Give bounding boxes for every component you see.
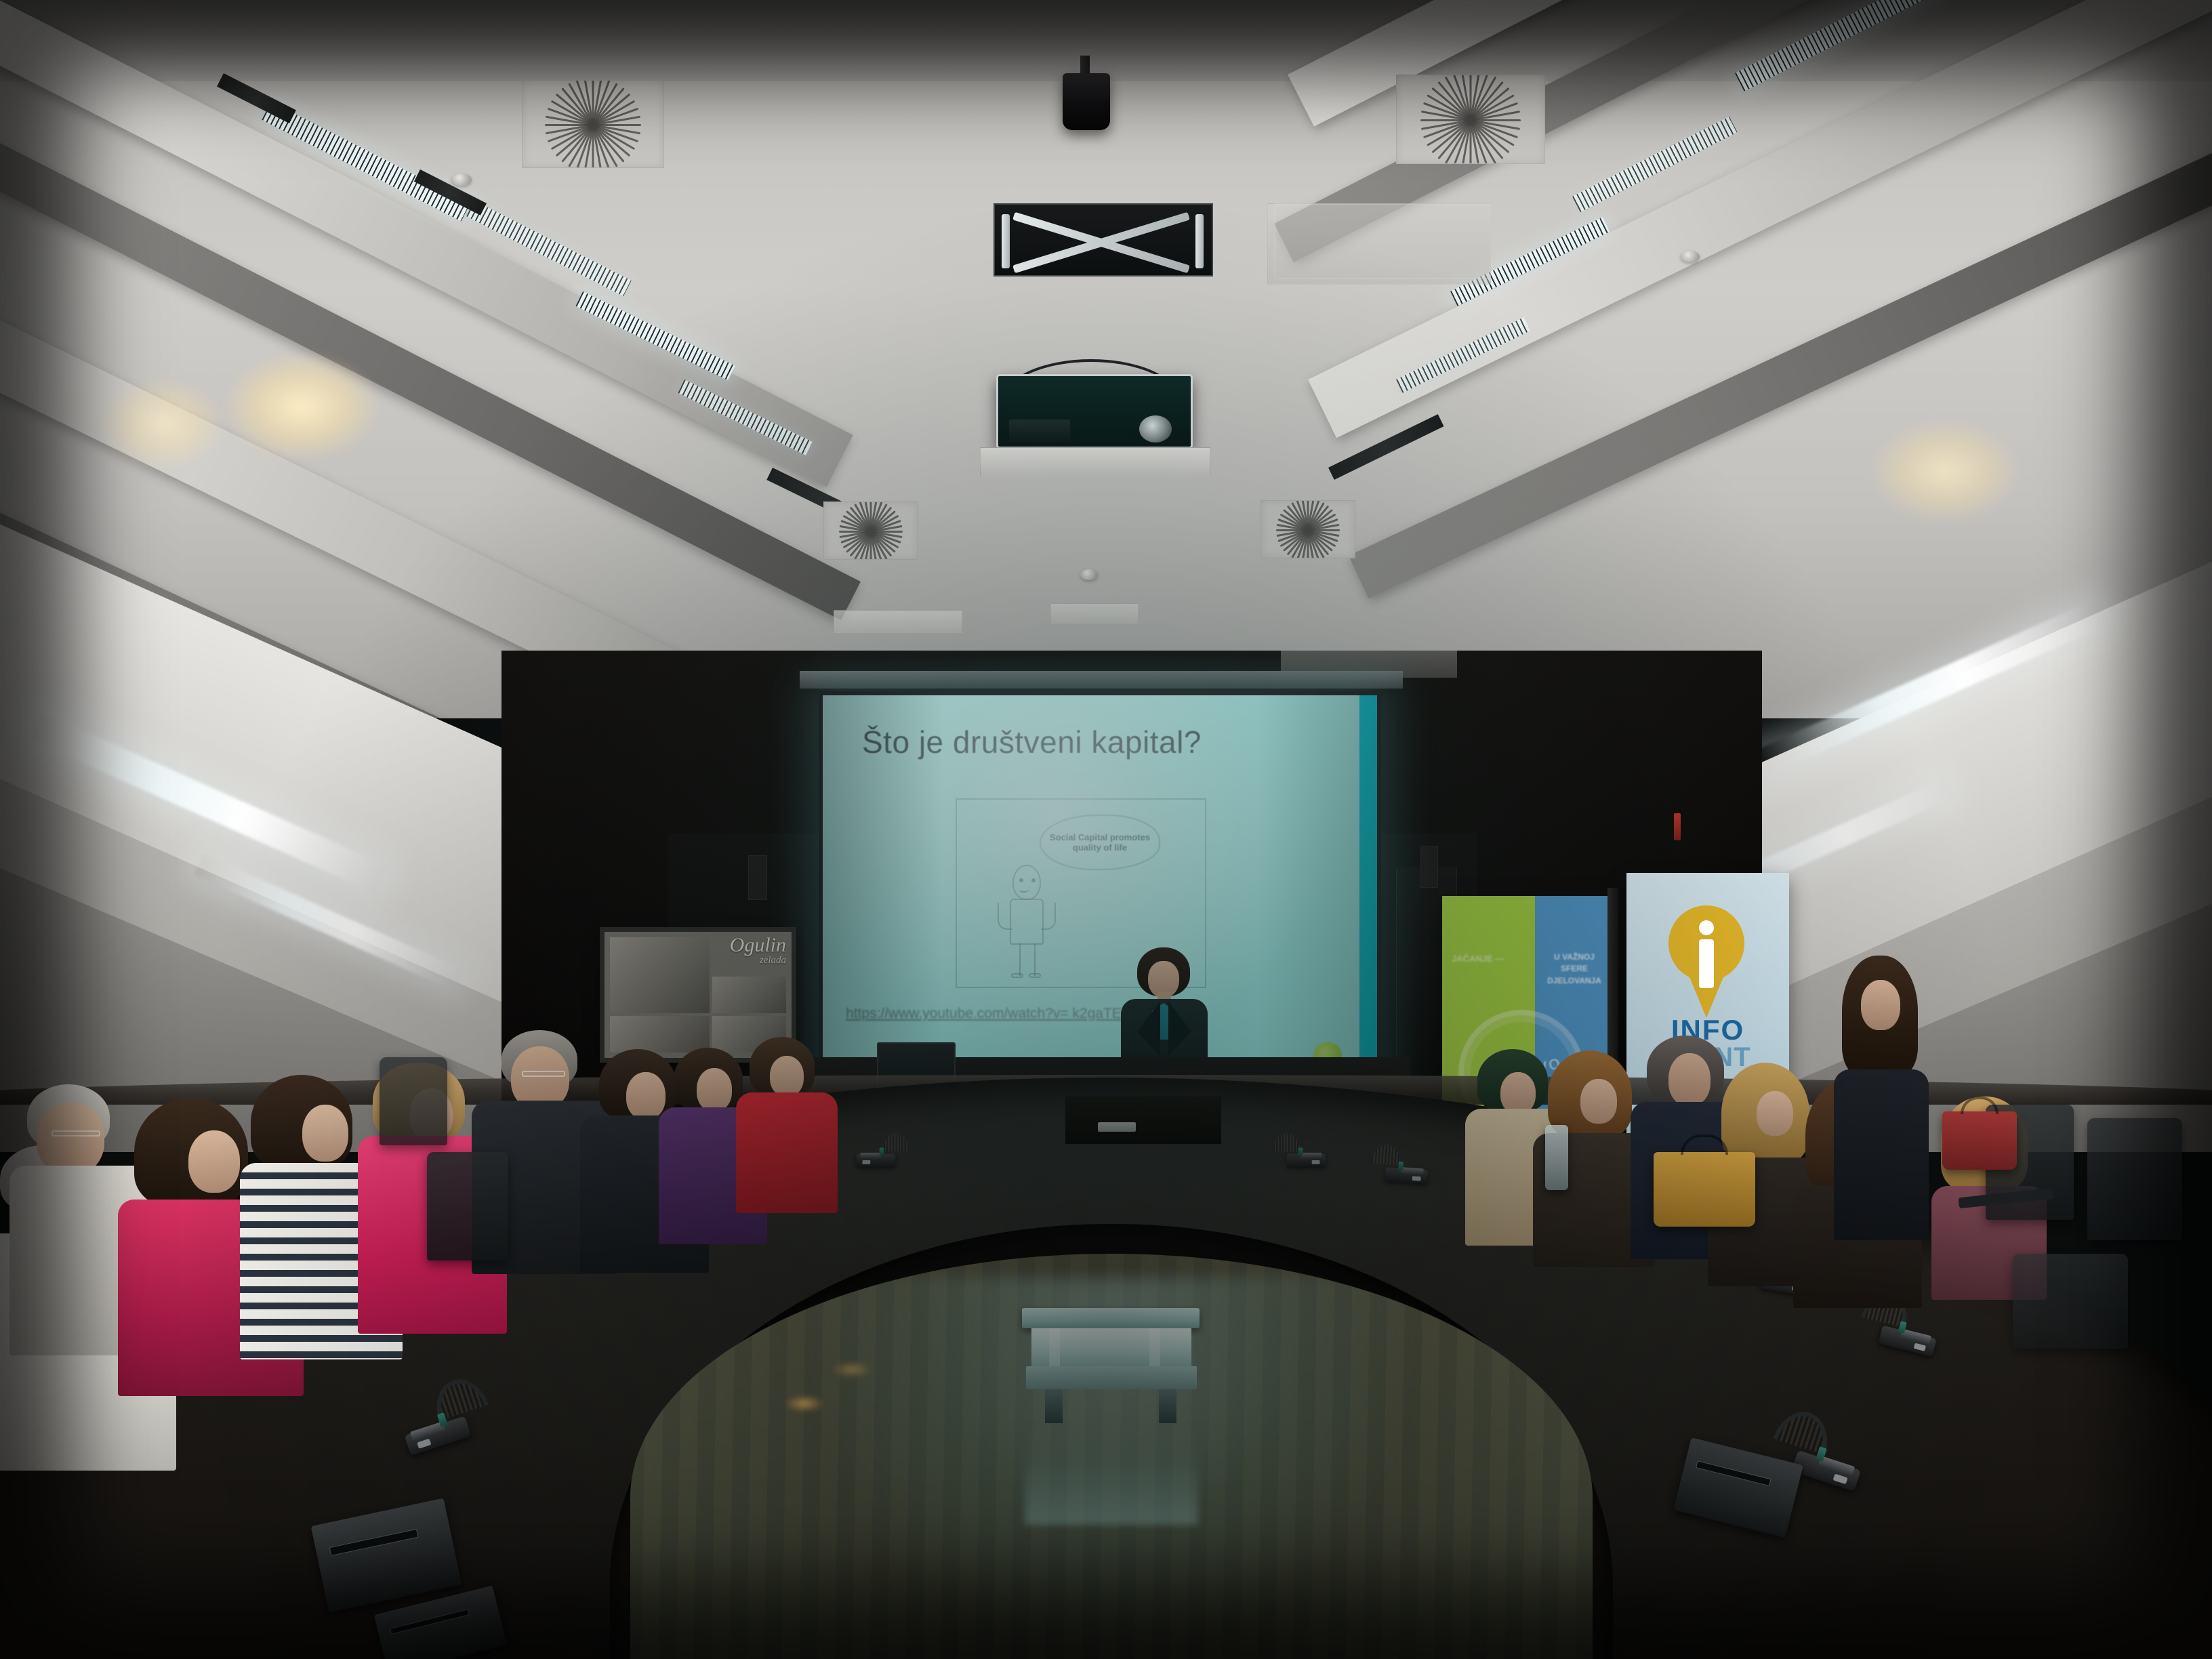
delegate-card-slot[interactable] [329,1529,419,1556]
info-i-dot [1699,920,1714,935]
centerpiece-post-right [1149,1328,1160,1366]
head [37,1102,104,1175]
mic-gooseneck [880,1130,912,1151]
projector-ceiling-tray [980,447,1210,477]
red-handbag[interactable] [1942,1111,2017,1170]
stick-figure-foot-left [1011,973,1023,978]
podium-paper [1098,1122,1136,1132]
mic-led-icon [1298,1147,1303,1155]
banner-green-left-text: JAČANJE — [1452,953,1540,965]
water-bottle[interactable] [1545,1125,1568,1190]
mic-led-icon [880,1147,884,1155]
head [1500,1072,1536,1114]
stick-figure [996,865,1059,979]
fire-alarm-icon [1674,813,1681,840]
centerpiece-reflection [1025,1423,1198,1525]
mic-gooseneck [1774,1405,1836,1456]
torso [1834,1069,1929,1240]
stick-figure-head [1012,865,1041,900]
smoke-detector-2 [1080,569,1098,580]
mic-button[interactable] [862,1160,870,1164]
stick-figure-leg-right [1034,943,1036,976]
chair-right-2[interactable] [2087,1118,2182,1240]
stick-figure-foot-right [1029,973,1041,978]
ceiling-projector [996,374,1193,449]
chair-left-1[interactable] [427,1152,508,1261]
head [302,1105,348,1162]
centerpiece-leg-left [1045,1389,1063,1423]
chair-right-3[interactable] [2013,1254,2128,1349]
conference-microphone[interactable] [1266,1126,1326,1166]
projector-vent [1009,419,1070,443]
head [1580,1079,1617,1124]
swirl-pattern [1273,508,1343,550]
head [1757,1091,1793,1136]
delegate-card-slot[interactable] [390,1609,469,1634]
projector-ceiling-tray-3 [1050,603,1139,623]
thought-bubble-text: Social Capital promotes quality of life [1041,832,1159,853]
banner-green-right-text: U VAŽNOJ SFERE DJELOVANJA [1544,951,1605,987]
thought-bubble: Social Capital promotes quality of life [1040,815,1160,870]
mic-button[interactable] [1412,1176,1421,1181]
stick-figure-leg-left [1019,943,1021,976]
mic-button[interactable] [1312,1160,1320,1164]
air-diffuser-left-2 [823,501,918,560]
projector-lens [1139,415,1172,443]
stick-figure-arm-right [1041,903,1056,930]
head [770,1056,804,1097]
projector-ceiling-tray-2 [834,610,962,633]
metal-glass-centerpiece [1017,1308,1206,1423]
head [1861,980,1900,1030]
air-diffuser-right-2 [1261,500,1355,558]
projection-screen-top-bar [800,671,1403,689]
slide-title: Što je društveni kapital? [862,724,1202,760]
stick-figure-torso [1010,899,1044,945]
map-pin-icon [1668,905,1744,981]
torso [736,1092,838,1213]
poster-title-text: Ogulin [730,934,786,956]
centerpiece-leg-right [1159,1389,1176,1423]
slide-youtube-link[interactable]: https://www.youtube.com/watch?v= k2gaTE [846,1006,1361,1022]
swirl-pattern [836,510,905,552]
delegate-card-slot[interactable] [1696,1460,1771,1486]
glasses-icon [52,1130,100,1136]
projection-screen: Što je društveni kapital? Social Capital… [819,691,1381,1098]
photo-scene: Što je društveni kapital? Social Capital… [0,0,2212,1659]
audience-woman-red [736,1037,838,1213]
chair-left-2[interactable] [380,1057,447,1145]
stick-figure-eye-right [1031,878,1036,882]
head [188,1130,240,1193]
mic-gooseneck [428,1372,489,1421]
slide-accent-stripe [1359,695,1377,1094]
conference-microphone[interactable] [1362,1136,1430,1185]
head [697,1068,732,1111]
floor-warm-reflection-2 [834,1362,870,1377]
back-wall-speaker-left [748,855,767,900]
conference-microphone[interactable] [857,1126,917,1166]
mic-panel [861,1153,882,1159]
mustard-handbag[interactable] [1654,1152,1755,1227]
floor-warm-reflection-1 [786,1396,823,1411]
stick-figure-arm-left [998,903,1012,930]
head [1668,1053,1711,1106]
slide-canvas: Što je društveni kapital? Social Capital… [823,695,1377,1094]
back-wall-speaker-right [1420,846,1438,888]
info-i-stem [1699,939,1714,988]
stick-figure-eye-left [1019,878,1023,882]
audience-woman-standing-back [1830,956,1931,1240]
poster-photo [712,977,786,1013]
podium-front-panel [1065,1097,1221,1144]
ceiling-camera [1063,73,1110,130]
centerpiece-top-shelf [1022,1308,1200,1328]
poster-title: Ogulin zelada [684,936,786,965]
mic-led-icon [1398,1162,1404,1170]
poster-subtitle-text: zelada [684,956,786,965]
centerpiece-base [1026,1366,1197,1389]
glasses-icon [522,1071,565,1077]
poster-photo [610,1016,710,1052]
centerpiece-post-left [1049,1328,1060,1366]
mic-panel [1300,1153,1322,1159]
